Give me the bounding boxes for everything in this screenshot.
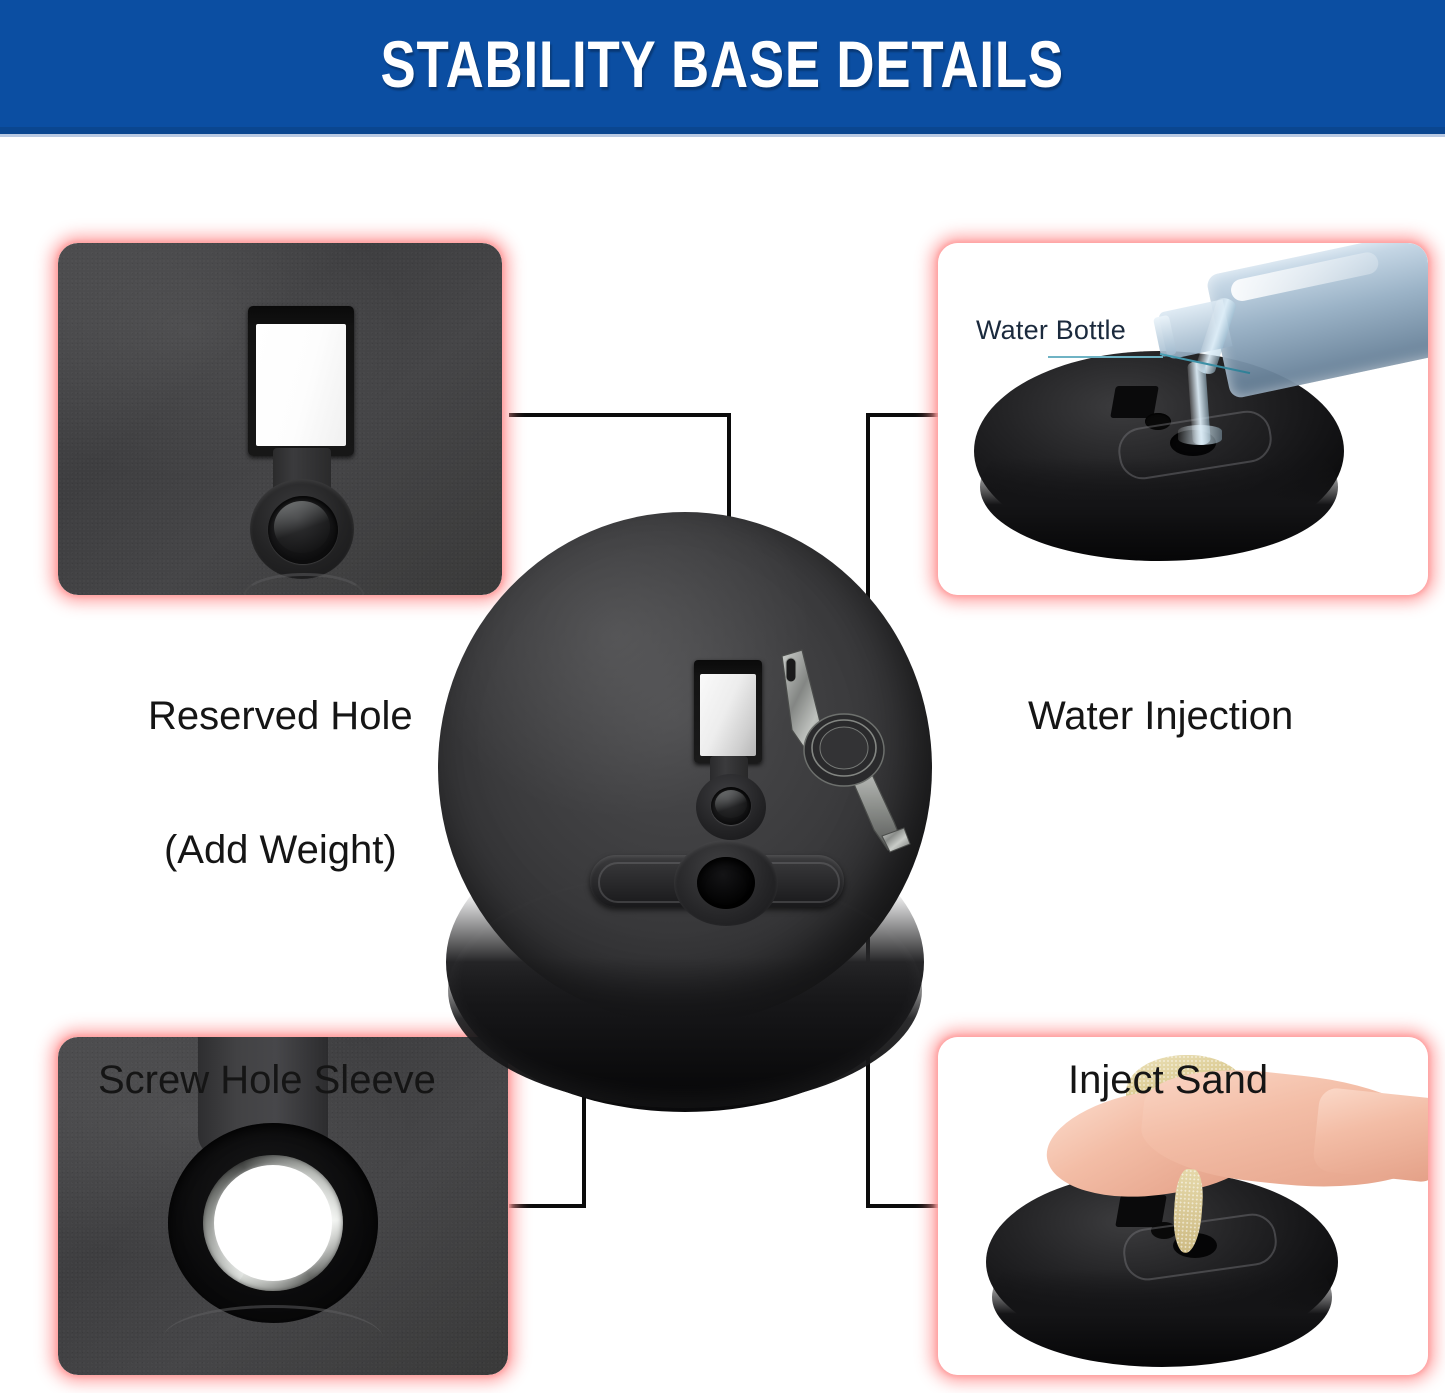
panel-reserved-hole (58, 243, 502, 595)
header-banner: STABILITY BASE DETAILS (0, 0, 1445, 127)
banner-underline (0, 127, 1445, 134)
water-splash (1178, 425, 1222, 445)
connector-water-horizontal (866, 413, 942, 417)
caption-screw-hole-sleeve-line1: Screw Hole Sleeve (98, 1058, 436, 1103)
caption-reserved-hole-line1: Reserved Hole (148, 694, 413, 739)
connector-sand-horizontal (866, 1204, 942, 1208)
screw-hole-highlight (274, 501, 330, 553)
caption-screw-hole-sleeve: Screw Hole Sleeve (98, 968, 436, 1192)
lower-contour-arc (163, 1305, 383, 1372)
water-bottle-label: Water Bottle (976, 315, 1126, 346)
panel-water-injection-photo: Water Bottle (938, 243, 1428, 595)
fill-hole (697, 857, 755, 909)
connector-reserved-hole-horizontal (509, 413, 731, 417)
caption-water-injection: Water Injection (1028, 604, 1293, 828)
screw-hole-highlight (715, 790, 747, 818)
caption-water-injection-line1: Water Injection (1028, 694, 1293, 739)
banner-shadow-line (0, 134, 1445, 137)
water-bottle-label-underline (1048, 356, 1163, 358)
key-latch-tool-icon (762, 644, 922, 864)
hand-right-wrist (1312, 1087, 1428, 1184)
main-product-base (438, 512, 932, 1102)
caption-reserved-hole: Reserved Hole (Add Weight) (148, 604, 413, 962)
connector-screw-hole-horizontal-bottom (509, 1204, 586, 1208)
panel-reserved-hole-photo (58, 243, 502, 595)
panel-water-injection: Water Bottle (938, 243, 1428, 595)
reserved-hole-bright-face (700, 674, 756, 756)
page-title: STABILITY BASE DETAILS (381, 26, 1065, 102)
infographic-canvas: STABILITY BASE DETAILS Reserved Hole (Ad… (0, 0, 1445, 1393)
caption-inject-sand-line1: Inject Sand (1068, 1058, 1268, 1103)
reserved-slot (248, 306, 354, 456)
caption-inject-sand: Inject Sand (1068, 968, 1268, 1192)
reserved-hole-slot (694, 660, 762, 763)
caption-reserved-hole-line2: (Add Weight) (148, 828, 413, 873)
reserved-slot-bright-face (256, 324, 346, 446)
